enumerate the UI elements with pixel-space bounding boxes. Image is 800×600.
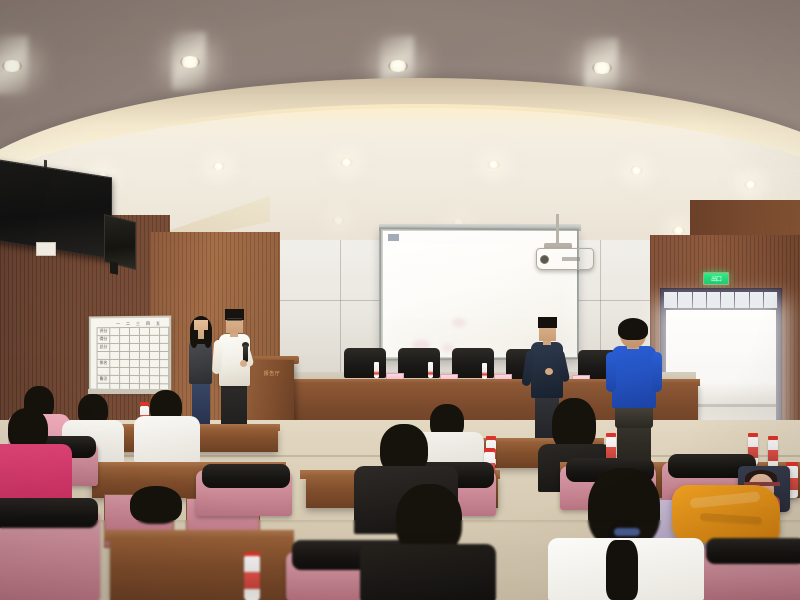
audience-body [134, 416, 200, 462]
whiteboard-row-label: 排名 [100, 361, 108, 365]
judge-chair [398, 348, 440, 378]
host-hair [538, 317, 557, 328]
eyeglasses-icon [227, 318, 242, 321]
screen-smudge [452, 318, 466, 327]
judge-water-bottle [428, 362, 433, 378]
whiteboard-row-label: 评分 [100, 329, 108, 333]
judge-chair [344, 348, 386, 378]
whiteboard-grid [97, 327, 170, 390]
audience-body-foreground [360, 544, 496, 600]
whiteboard-col-label: 二 [126, 322, 130, 326]
whiteboard-col-label: 三 [136, 322, 140, 326]
seat-headrest [0, 498, 98, 528]
ceiling-downlight-inner-6 [744, 180, 757, 189]
host-hand [545, 368, 553, 375]
downlight-flare [0, 36, 28, 94]
judge-chair [452, 348, 494, 378]
panel-seam [340, 240, 341, 390]
seat-headrest [706, 538, 800, 564]
whiteboard-col-label: 一 [116, 322, 120, 326]
student-left-arm [606, 352, 616, 392]
ceiling-downlight-inner-7 [672, 226, 685, 235]
whiteboard-col-label: 四 [146, 322, 150, 326]
water-bottle [244, 556, 260, 600]
wall-speaker [104, 214, 136, 270]
projector-brand-label [562, 257, 580, 261]
projector-lens [540, 255, 549, 264]
ceiling-downlight-inner-4 [487, 160, 500, 169]
doorway-transom-grid [664, 292, 778, 308]
ceiling-downlight-inner-2 [212, 162, 225, 171]
whiteboard-col-label: 五 [156, 322, 160, 326]
photograph-conference-hall: 出口 评分 得分 总分 排名 备注 一 二 三 四 五 [0, 0, 800, 600]
lectern-engraving: 报告厅 [256, 370, 288, 377]
ceiling-downlight-inner-5 [630, 166, 643, 175]
whiteboard-row-label: 得分 [100, 337, 108, 341]
scoring-whiteboard: 评分 得分 总分 排名 备注 一 二 三 四 五 [89, 316, 171, 392]
water-bottle [768, 440, 778, 468]
ceiling-vent-1 [332, 216, 345, 225]
student-right-arm [652, 352, 662, 392]
assistant-hair-side [204, 330, 212, 348]
student-hair [618, 318, 648, 340]
judge-water-bottle [374, 362, 379, 378]
student-blue-shirt [612, 346, 656, 408]
judge-water-bottle [482, 363, 487, 379]
projector-drop-rod [556, 214, 559, 246]
whiteboard-row-label: 总分 [100, 345, 108, 349]
assistant-hair-side [190, 330, 198, 348]
whiteboard-row-label: 备注 [100, 377, 108, 381]
ceiling-downlight-inner-3 [340, 158, 353, 167]
speaker-mount [110, 261, 118, 274]
audience-head [130, 486, 182, 524]
screen-corner-logo [388, 234, 399, 241]
seat-headrest [202, 464, 290, 488]
wall-display-screen [0, 159, 112, 260]
presenter-hand [240, 360, 247, 367]
audience-ponytail-tail [606, 540, 638, 600]
wall-plaque [36, 242, 56, 256]
hair-tie [614, 528, 640, 536]
audience-desk [110, 538, 294, 600]
downlight-flare [172, 32, 206, 90]
exit-sign: 出口 [703, 272, 729, 285]
